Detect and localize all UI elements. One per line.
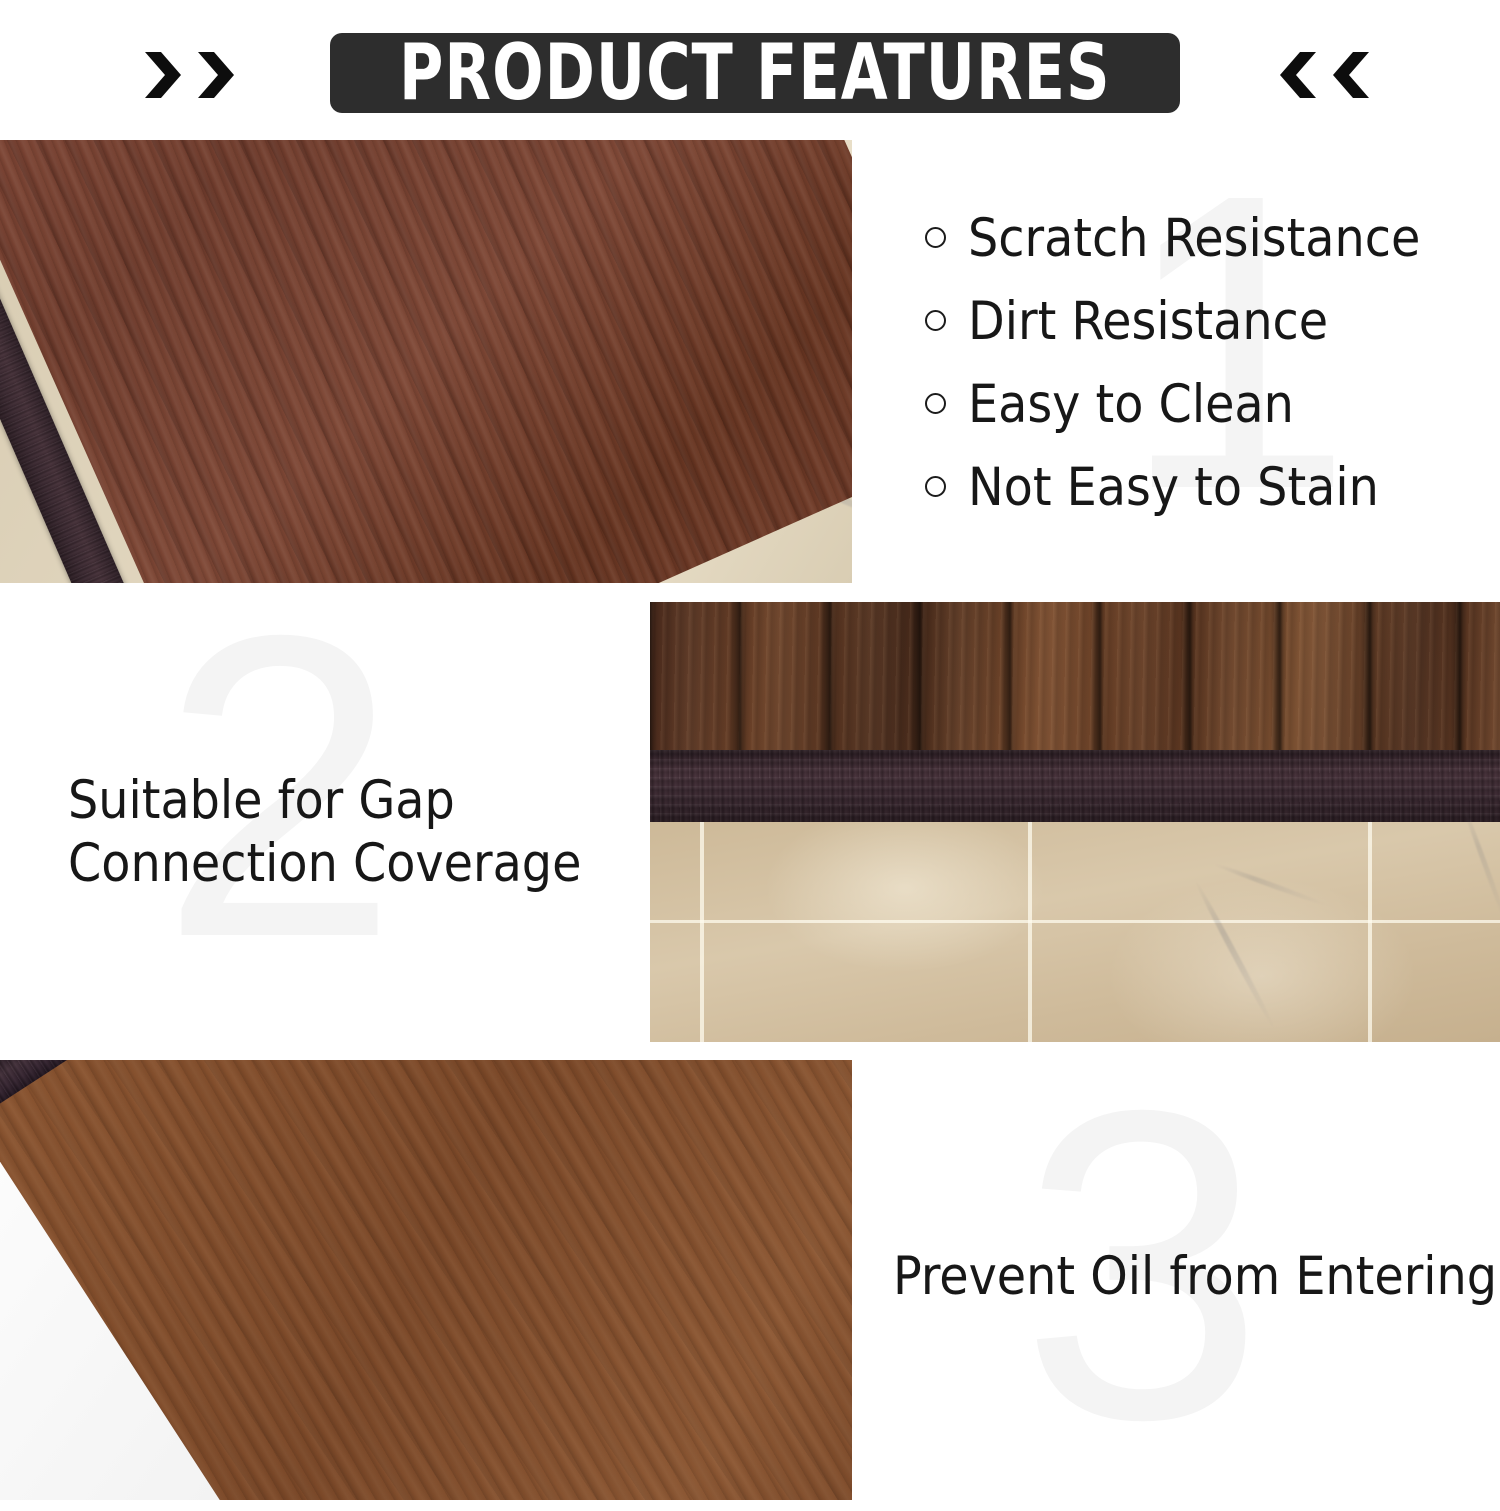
list-item: Dirt Resistance [925, 295, 1485, 348]
threshold-transition-strip [650, 750, 1500, 822]
list-item: Easy to Clean [925, 378, 1485, 431]
double-chevron-right-icon [143, 50, 241, 100]
list-item: Scratch Resistance [925, 212, 1485, 265]
photo-dark-wood-floor-meets-marble-tile [0, 140, 852, 583]
caption-line-1: Suitable for Gap [68, 770, 628, 833]
chevron-right-icon-2 [196, 50, 241, 100]
photo-white-surface-meets-oak-floor [0, 1060, 852, 1500]
section-2-caption: Suitable for Gap Connection Coverage [68, 770, 628, 895]
dark-wood-floor-surface [0, 140, 852, 583]
feature-label: Not Easy to Stain [968, 461, 1379, 514]
chevron-left-icon-2 [1331, 50, 1376, 100]
travertine-tile-surface [650, 822, 1500, 1042]
hollow-circle-icon [925, 393, 946, 414]
rustic-plank-floor-surface [650, 602, 1500, 754]
feature-label: Scratch Resistance [968, 212, 1420, 265]
double-chevron-left-icon [1278, 50, 1376, 100]
feature-bullet-list: Scratch Resistance Dirt Resistance Easy … [925, 212, 1485, 544]
chevron-left-icon-1 [1278, 50, 1323, 100]
hollow-circle-icon [925, 227, 946, 248]
caption-line-2: Connection Coverage [68, 833, 628, 896]
chevron-right-icon-1 [143, 50, 188, 100]
list-item: Not Easy to Stain [925, 461, 1485, 514]
hollow-circle-icon [925, 310, 946, 331]
hollow-circle-icon [925, 476, 946, 497]
page-title: PRODUCT FEATURES [399, 34, 1111, 112]
page-title-banner: PRODUCT FEATURES [330, 33, 1180, 113]
section-3-caption: Prevent Oil from Entering [893, 1248, 1497, 1306]
feature-label: Dirt Resistance [968, 295, 1328, 348]
photo-rustic-plank-floor-meets-travertine-tile [650, 602, 1500, 1042]
feature-label: Easy to Clean [968, 378, 1294, 431]
